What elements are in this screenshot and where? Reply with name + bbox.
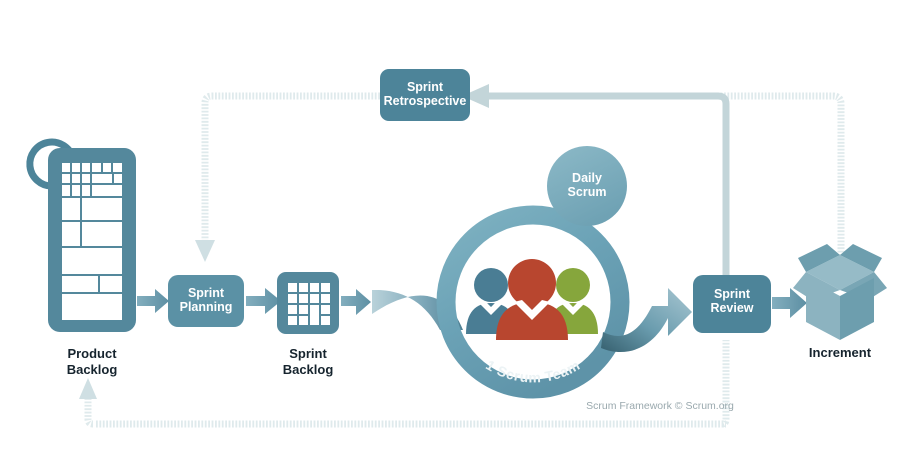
sprint-planning-line1: Sprint [188, 286, 225, 300]
product-backlog-label-line2: Backlog [67, 362, 118, 377]
sprint-retrospective-line1: Sprint [407, 80, 444, 94]
connector-planning-to-backlog [246, 288, 281, 314]
people-group-icon [466, 259, 598, 340]
daily-scrum-line1: Daily [572, 171, 602, 185]
sprint-backlog-label-line1: Sprint [289, 346, 327, 361]
sprint-review-line1: Sprint [714, 287, 751, 301]
node-sprint-retrospective[interactable]: Sprint Retrospective [380, 69, 470, 121]
sprint-retrospective-line2: Retrospective [384, 94, 467, 108]
credit-text: Scrum Framework © Scrum.org [586, 400, 734, 412]
connector-increment-dashed [452, 96, 841, 286]
node-product-backlog[interactable]: Product Backlog [48, 148, 136, 377]
scrum-framework-diagram: Sprint Retrospective [0, 0, 897, 463]
sprint-backlog-label-line2: Backlog [283, 362, 334, 377]
node-sprint-planning[interactable]: Sprint Planning [168, 275, 244, 327]
connector-backlog-to-planning [137, 289, 169, 313]
node-daily-scrum[interactable]: Daily Scrum [547, 146, 627, 226]
node-sprint-backlog[interactable]: Sprint Backlog [277, 272, 339, 377]
connector-retrospective-to-planning [195, 96, 380, 262]
product-backlog-label-line1: Product [67, 346, 117, 361]
daily-scrum-line2: Scrum [568, 185, 607, 199]
node-sprint-review[interactable]: Sprint Review [693, 275, 771, 333]
open-box-icon [793, 244, 887, 340]
sprint-planning-line2: Planning [180, 300, 233, 314]
increment-label: Increment [809, 345, 872, 360]
node-scrum-team[interactable]: 1 Scrum Team [446, 215, 620, 389]
node-increment[interactable]: Increment [793, 244, 887, 360]
sprint-review-line2: Review [710, 301, 753, 315]
diagram-canvas: Sprint Retrospective [0, 0, 897, 463]
